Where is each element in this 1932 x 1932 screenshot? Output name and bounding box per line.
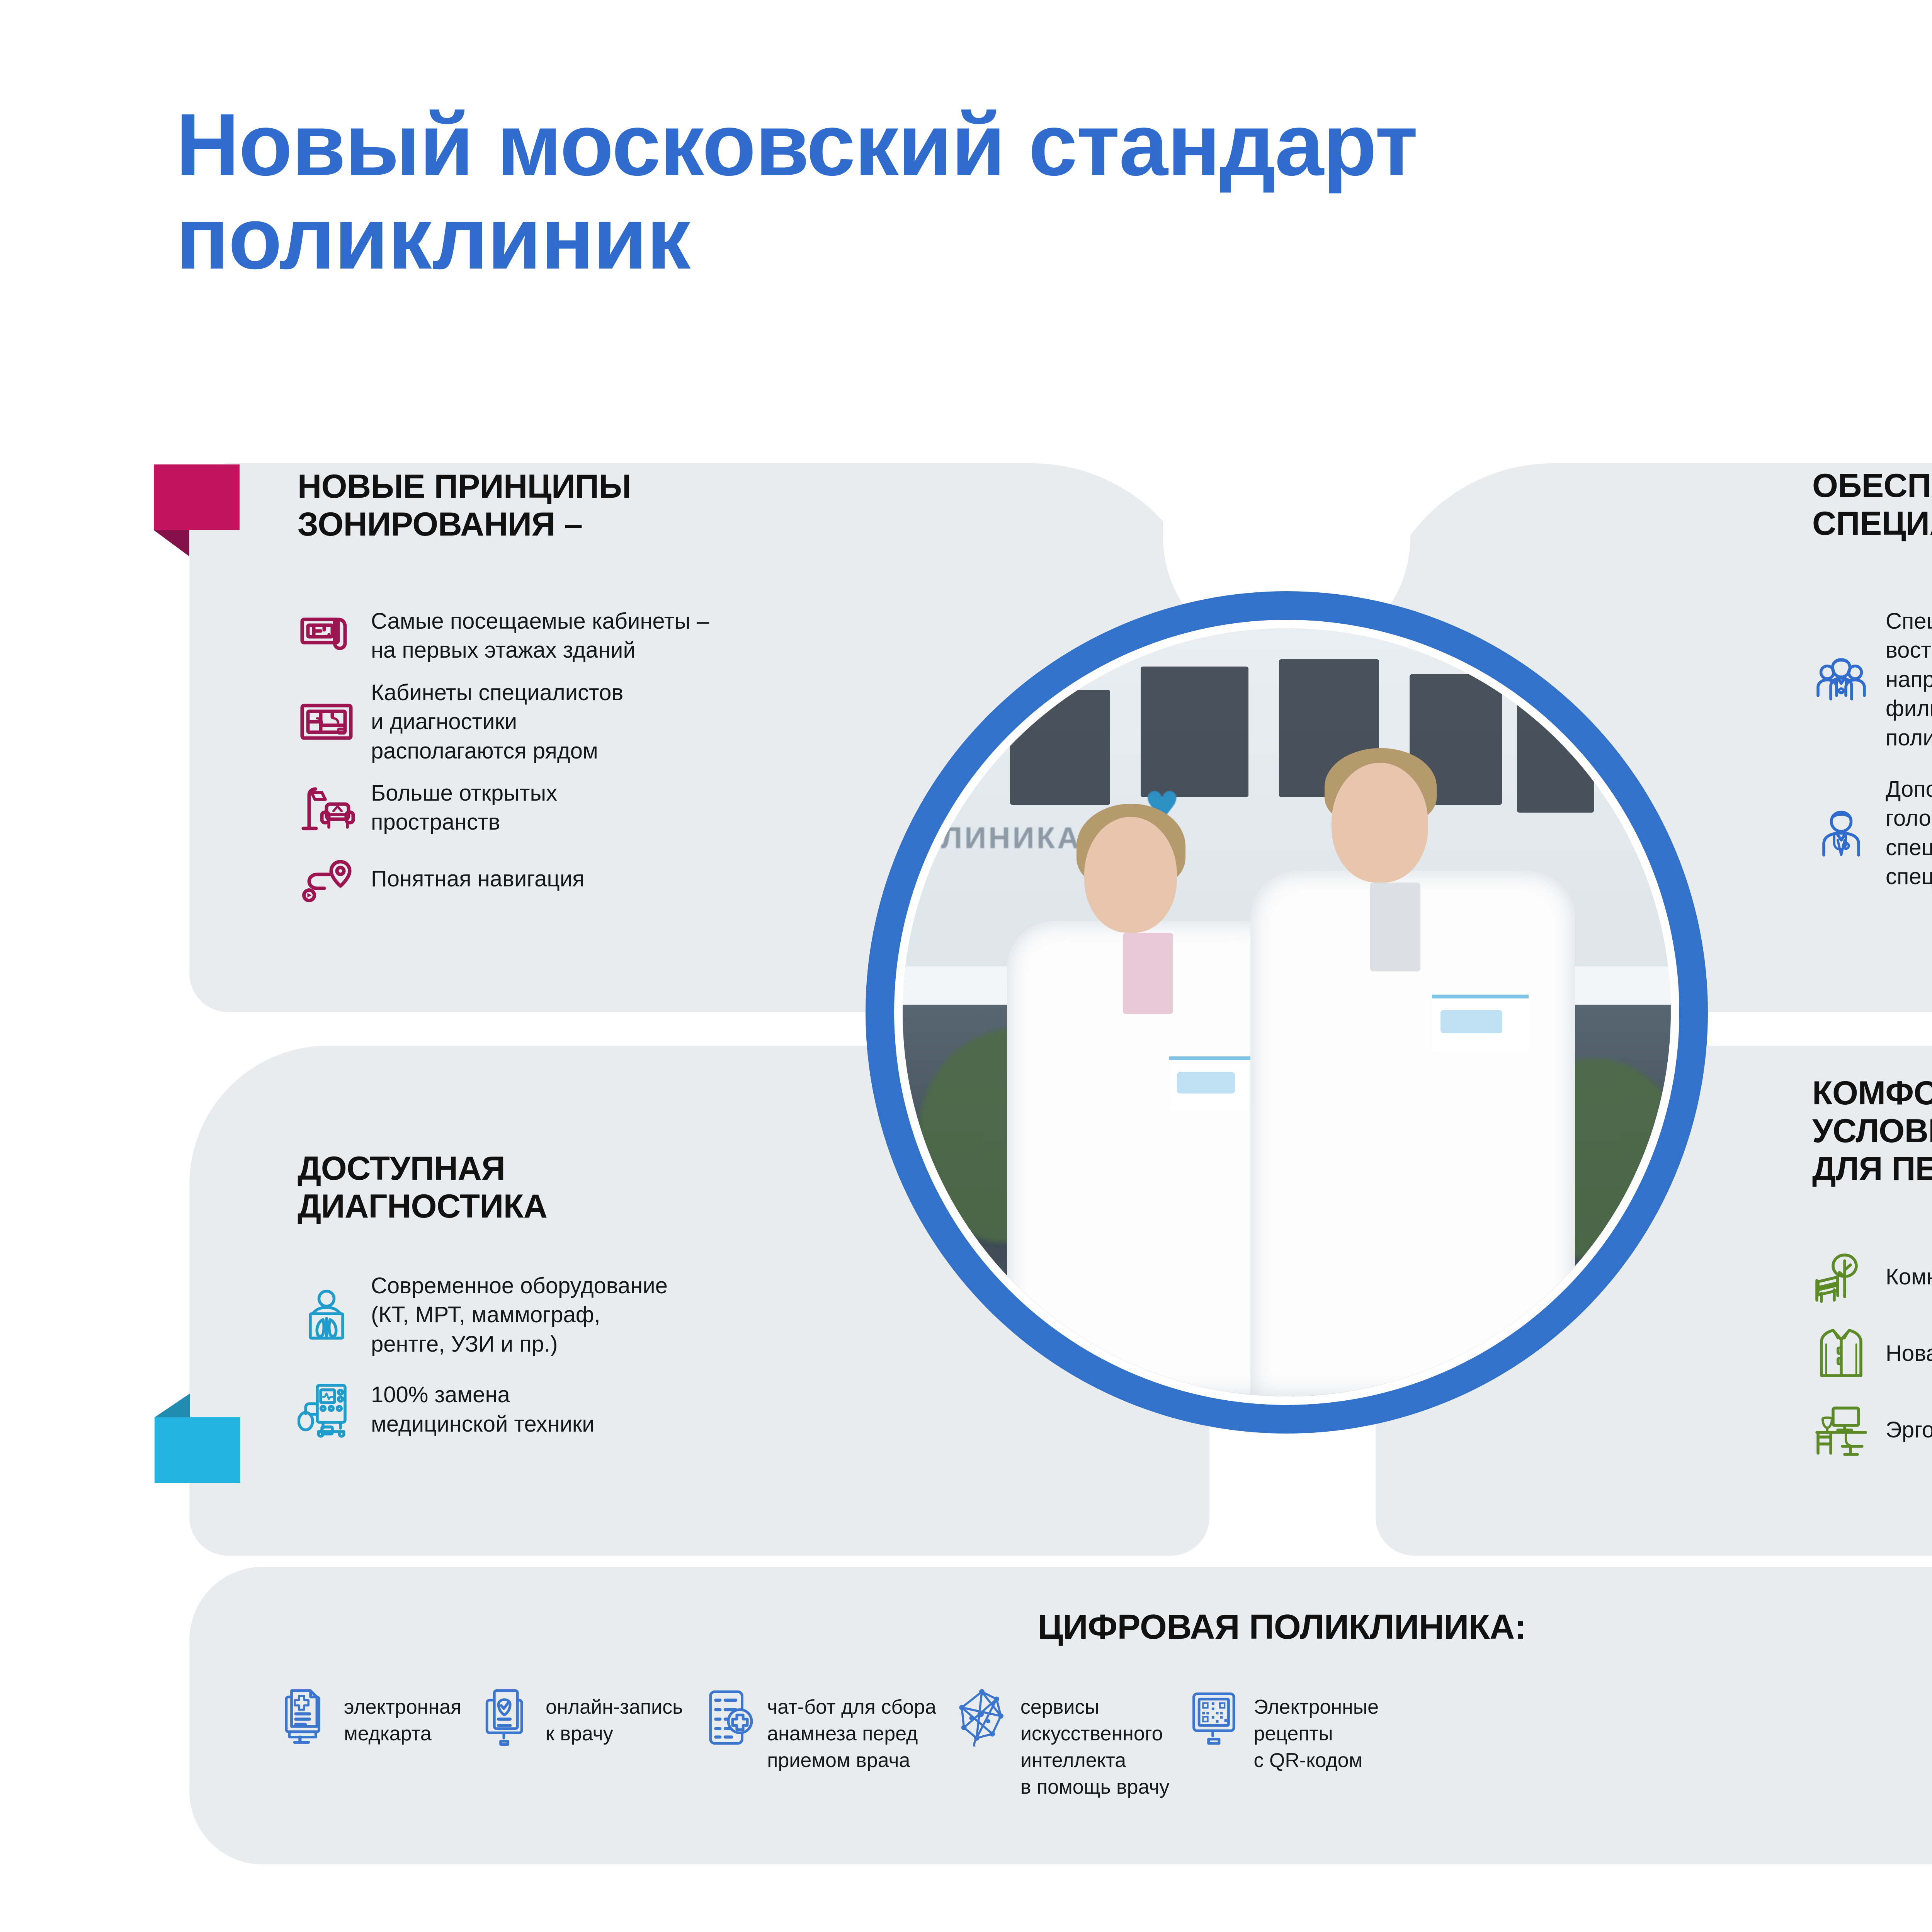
section-title-digital: ЦИФРОВАЯ ПОЛИКЛИНИКА:: [189, 1607, 1932, 1647]
list-item-label: Новая форма: [1886, 1339, 1932, 1368]
ribbon-flag: [155, 1417, 240, 1483]
lamp-armchair-icon: [298, 779, 355, 837]
list-item: онлайн-запись к врачу: [480, 1689, 683, 1747]
list-item-label: электронная медкарта: [344, 1689, 461, 1747]
list-item: Электронные рецепты с QR-кодом: [1188, 1689, 1379, 1774]
list-item-label: Эргономичная мебель: [1886, 1415, 1932, 1444]
section-title-diagnostics: ДОСТУПНАЯ ДИАГНОСТИКА: [298, 1150, 916, 1225]
list-item-label: Комнаты отдыха: [1886, 1262, 1932, 1291]
infographic-poster: Новый московский стандарт поликлиник КОМ…: [0, 0, 1932, 1932]
doctors-group-icon: [1812, 650, 1870, 708]
list-item-label: Кабинеты специалистов и диагностики расп…: [371, 678, 623, 765]
building-window: [1010, 690, 1110, 805]
ribbon-tab-zoning: [154, 464, 240, 530]
ribbon-fold: [154, 530, 189, 556]
list-item-label: Самые посещаемые кабинеты – на первых эт…: [371, 607, 709, 665]
list-item: Современное оборудование (КТ, МРТ, маммо…: [298, 1271, 1001, 1359]
checklist-cross-icon: [701, 1689, 755, 1747]
bullet-list-staff: Комнаты отдыха Новая форма: [1812, 1248, 1932, 1478]
blueprint-roll-icon: [298, 607, 355, 665]
list-item-label: Больше открытых пространств: [371, 779, 557, 837]
medical-device-icon: [298, 1381, 355, 1439]
photo-two-doctors: ♥ ЛИНИКА: [903, 628, 1671, 1396]
ribbon-fold: [155, 1393, 190, 1417]
medical-record-monitor-icon: [278, 1689, 332, 1747]
doctor-right: [1250, 763, 1583, 1396]
list-item-label: Современное оборудование (КТ, МРТ, маммо…: [371, 1271, 668, 1359]
ribbon-flag: [154, 464, 240, 530]
doctor-stethoscope-icon: [1812, 804, 1870, 862]
list-item: Новая форма: [1812, 1325, 1932, 1383]
list-item-label: сервисы искусственного интеллекта в помо…: [1020, 1689, 1170, 1801]
inner-shirt: [1123, 933, 1173, 1014]
bench-tree-icon: [1812, 1248, 1870, 1306]
list-item: чат-бот для сбора анамнеза перед приемом…: [701, 1689, 936, 1774]
list-item-label: чат-бот для сбора анамнеза перед приемом…: [767, 1689, 936, 1774]
list-item-label: онлайн-запись к врачу: [546, 1689, 683, 1747]
route-pin-icon: [298, 850, 355, 908]
desk-chair-icon: [1812, 1401, 1870, 1459]
brain-network-icon: [955, 1689, 1009, 1747]
list-item: Специалисты 8 самых востребованных напра…: [1812, 607, 1932, 752]
list-item: Эргономичная мебель: [1812, 1401, 1932, 1459]
section-title-specialists: ОБЕСПЕЧЕННОСТЬ СПЕЦИАЛИСТАМИ: [1812, 467, 1932, 543]
ribbon-tab-diagnostics: [155, 1417, 240, 1483]
list-item-label: Электронные рецепты с QR-кодом: [1253, 1689, 1379, 1774]
face: [1332, 763, 1428, 883]
list-item-label: Дополнительно в каждом головном здании –…: [1886, 775, 1932, 891]
inner-shirt: [1370, 883, 1420, 971]
list-item-label: Специалисты 8 самых востребованных напра…: [1886, 607, 1932, 752]
face: [1084, 817, 1177, 933]
list-item: Дополнительно в каждом головном здании –…: [1812, 775, 1932, 891]
list-item-label: Понятная навигация: [371, 864, 584, 893]
coat-logo-patch: [1177, 1072, 1235, 1094]
lab-coat-icon: [1812, 1325, 1870, 1383]
floor-plan-icon: [298, 693, 355, 751]
page-title: Новый московский стандарт поликлиник: [176, 99, 1932, 285]
section-title-zoning: НОВЫЕ ПРИНЦИПЫ ЗОНИРОВАНИЯ –: [298, 468, 1032, 543]
qr-tablet-icon: [1188, 1689, 1242, 1747]
chest-xray-icon: [298, 1286, 355, 1344]
digital-features-row: электронная медкарта онлайн-запись к вра…: [278, 1689, 1932, 1801]
list-item: электронная медкарта: [278, 1689, 461, 1747]
list-item: 100% замена медицинской техники: [298, 1380, 1001, 1439]
list-item: сервисы искусственного интеллекта в помо…: [955, 1689, 1170, 1801]
central-photo-circle: ♥ ЛИНИКА: [866, 591, 1708, 1434]
checkmark-monitor-icon: [480, 1689, 534, 1747]
bullet-list-specialists: Специалисты 8 самых востребованных напра…: [1812, 607, 1932, 914]
list-item: Комнаты отдыха: [1812, 1248, 1932, 1306]
section-title-staff: КОМФОРТНЫЕ УСЛОВИЯ ДЛЯ ПЕРСОНАЛА: [1812, 1074, 1932, 1188]
list-item-label: 100% замена медицинской техники: [371, 1380, 595, 1439]
coat-logo-patch: [1440, 1010, 1502, 1033]
bullet-list-diagnostics: Современное оборудование (КТ, МРТ, маммо…: [298, 1271, 1001, 1460]
